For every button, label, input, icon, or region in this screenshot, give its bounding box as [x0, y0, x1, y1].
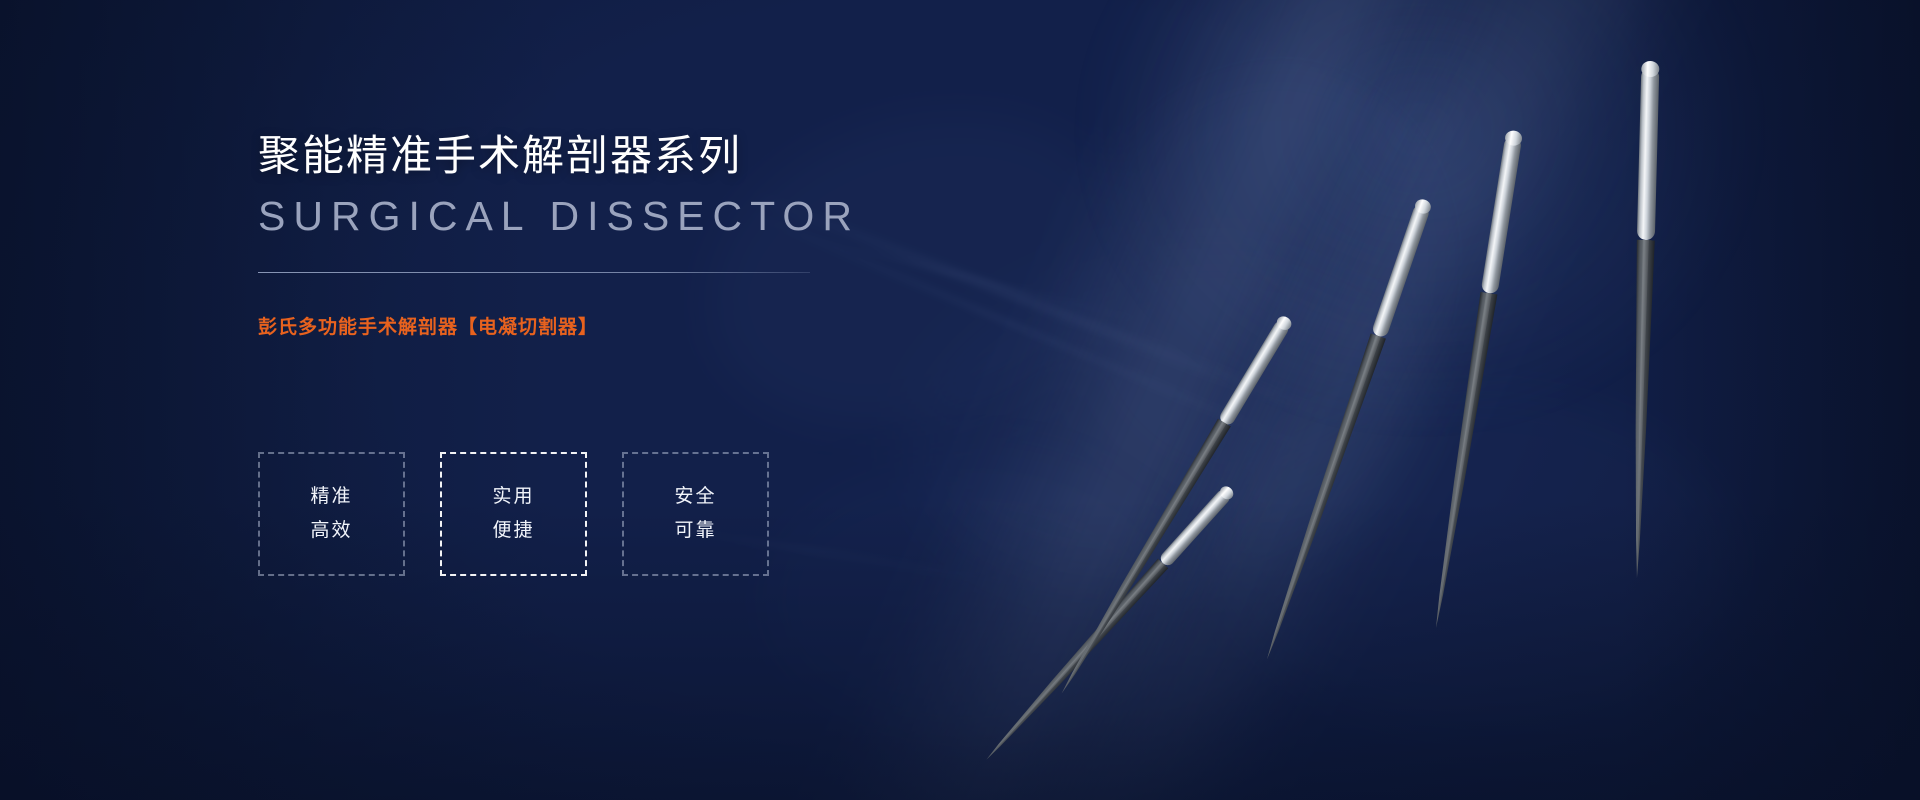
feature-line-1: 实用: [492, 483, 534, 512]
feature-box-row: 精准 高效 实用 便捷 安全 可靠: [258, 452, 769, 576]
feature-box-safety[interactable]: 安全 可靠: [622, 452, 769, 576]
feature-box-accuracy[interactable]: 精准 高效: [258, 452, 405, 576]
product-name-label: 彭氏多功能手术解剖器【电凝切割器】: [258, 312, 958, 339]
hero-text-block: 聚能精准手术解剖器系列 SURGICAL DISSECTOR 彭氏多功能手术解剖…: [258, 130, 958, 339]
feature-line-2: 可靠: [674, 517, 716, 546]
page-subtitle-english: SURGICAL DISSECTOR: [258, 191, 958, 242]
vignette: [0, 0, 1920, 800]
feature-box-practicality[interactable]: 实用 便捷: [440, 452, 587, 576]
page-title: 聚能精准手术解剖器系列: [258, 130, 958, 183]
title-divider: [258, 272, 810, 273]
feature-line-1: 精准: [310, 483, 352, 512]
feature-line-2: 便捷: [492, 517, 534, 546]
feature-line-1: 安全: [674, 483, 716, 512]
feature-line-2: 高效: [310, 517, 352, 546]
product-hero-banner: 聚能精准手术解剖器系列 SURGICAL DISSECTOR 彭氏多功能手术解剖…: [0, 0, 1920, 800]
